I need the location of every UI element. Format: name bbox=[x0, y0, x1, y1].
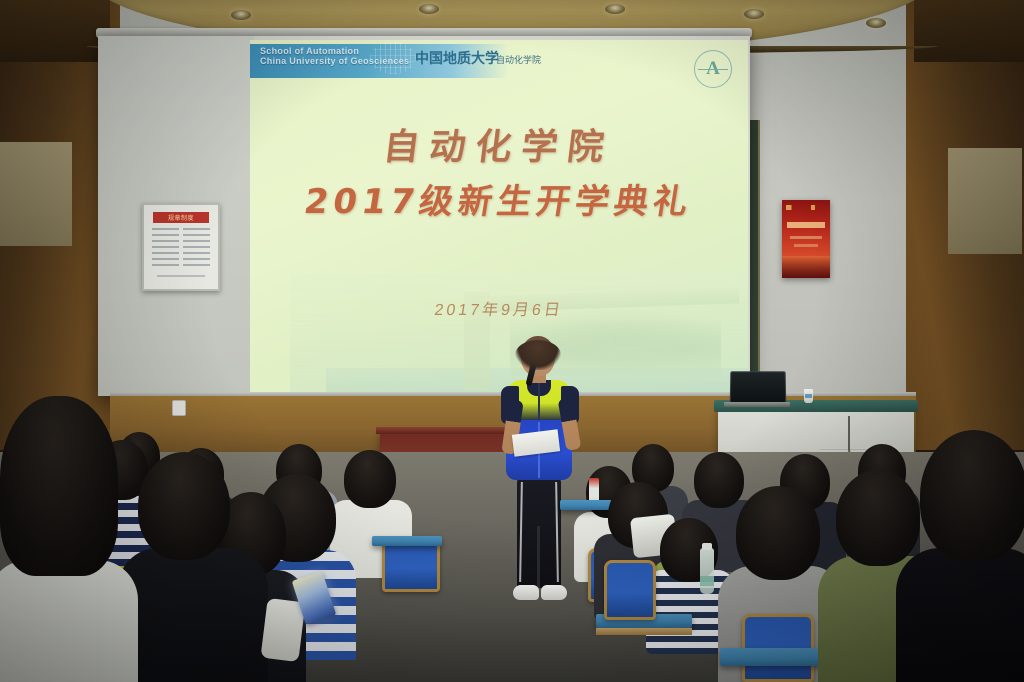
notice-title-bar: 规章制度 bbox=[153, 212, 209, 223]
list-item bbox=[896, 548, 1024, 682]
speaker-hair bbox=[515, 340, 561, 370]
water-bottle-cap bbox=[702, 543, 712, 550]
desk bbox=[720, 648, 830, 666]
downlight-icon bbox=[866, 18, 886, 28]
slide-english-line2: China University of Geosciences bbox=[260, 56, 409, 66]
poster-subtitle-block bbox=[790, 236, 822, 239]
speaker-leg-gap bbox=[537, 526, 540, 588]
university-emblem-icon: A bbox=[694, 50, 732, 88]
speaker-shoe-left bbox=[513, 585, 539, 600]
paper-cup bbox=[804, 389, 813, 403]
lectern-top bbox=[376, 427, 508, 434]
lecture-hall-photo: School of Automation China University of… bbox=[0, 0, 1024, 682]
list-item bbox=[0, 396, 118, 576]
white-bag bbox=[260, 598, 305, 662]
poster-landscape-graphic bbox=[782, 256, 830, 278]
notice-column-right bbox=[183, 228, 210, 270]
slide-subtitle: 2017级新生开学典礼 bbox=[250, 174, 748, 223]
speaker-shoe-right bbox=[541, 585, 567, 600]
chair[interactable] bbox=[382, 540, 440, 592]
list-item bbox=[920, 430, 1024, 562]
presentation-laptop-base bbox=[724, 402, 790, 407]
downlight-icon bbox=[605, 4, 625, 14]
slide-date: 2017年9月6日 bbox=[250, 296, 748, 320]
list-item bbox=[0, 560, 138, 682]
downlight-icon bbox=[419, 4, 439, 14]
student-speaker bbox=[497, 336, 583, 616]
ceiling-corner-right bbox=[914, 0, 1024, 62]
poster-top-decoration bbox=[786, 205, 826, 210]
power-outlet-icon bbox=[172, 400, 186, 416]
water-bottle bbox=[700, 548, 714, 594]
poster-subtitle-block-2 bbox=[794, 244, 818, 247]
ceiling-corner-left bbox=[0, 0, 110, 62]
wall-notice-board: 规章制度 bbox=[142, 203, 220, 291]
notice-footer-line bbox=[157, 275, 205, 277]
notice-columns bbox=[149, 228, 213, 270]
list-item bbox=[138, 452, 230, 560]
chair[interactable] bbox=[604, 560, 656, 620]
slide-title: 自动化学院 bbox=[250, 118, 748, 170]
right-acoustic-panel bbox=[948, 148, 1022, 254]
downlight-icon bbox=[744, 9, 764, 19]
slide-university-name: 中国地质大学 bbox=[415, 48, 499, 68]
list-item bbox=[694, 452, 744, 508]
list-item bbox=[836, 470, 920, 566]
poster-title-block bbox=[787, 222, 825, 228]
desk-edge bbox=[596, 628, 692, 635]
left-acoustic-panel bbox=[0, 142, 72, 246]
notice-column-left bbox=[152, 228, 179, 270]
slide-department-name: 自动化学院 bbox=[496, 53, 541, 66]
slide-english-name: School of Automation China University of… bbox=[260, 46, 409, 67]
list-item bbox=[344, 450, 396, 508]
slide-english-line1: School of Automation bbox=[260, 46, 409, 56]
speaker-jacket-zip bbox=[538, 382, 540, 422]
presentation-laptop-screen bbox=[730, 371, 787, 405]
list-item bbox=[736, 486, 820, 580]
red-propaganda-poster bbox=[782, 200, 830, 278]
desk bbox=[372, 536, 442, 546]
list-item bbox=[118, 548, 268, 682]
downlight-icon bbox=[231, 10, 251, 20]
notice-title: 规章制度 bbox=[168, 213, 194, 222]
water-bottle-label bbox=[700, 576, 714, 586]
